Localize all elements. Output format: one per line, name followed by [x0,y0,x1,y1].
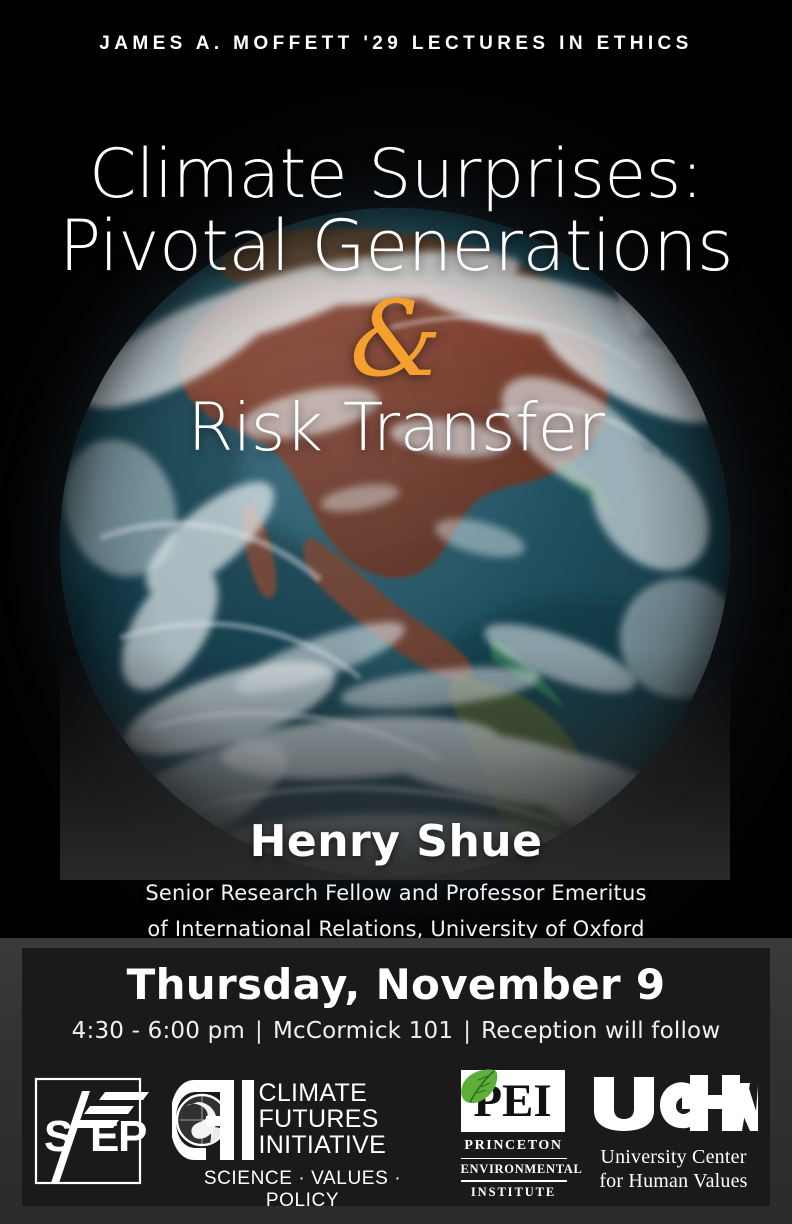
pei-line-environmental: ENVIRONMENTAL [461,1161,567,1178]
poster-title: Climate Surprises: Pivotal Generations &… [0,140,792,462]
uchv-line-2: for Human Values [588,1170,760,1194]
event-separator-1: | [245,1018,273,1044]
title-line-3: Risk Transfer [0,394,792,462]
step-letter-p: P [118,1112,147,1161]
event-note: Reception will follow [481,1018,720,1044]
event-time: 4:30 - 6:00 pm [72,1018,245,1044]
pei-line-institute: INSTITUTE [461,1184,567,1201]
step-logo: S E P [33,1075,151,1187]
university-center-human-values-logo: University Center for Human Values [588,1075,760,1187]
uchv-subtitle-block: University Center for Human Values [588,1146,760,1193]
event-detail-line: 4:30 - 6:00 pm|McCormick 101|Reception w… [22,1018,770,1044]
climate-futures-initiative-logo: CLIMATE FUTURES INITIATIVE SCIENCE · VAL… [172,1076,434,1186]
title-line-1: Climate Surprises: [0,140,792,210]
cfi-word-climate: CLIMATE [259,1081,387,1107]
event-date: Thursday, November 9 [22,960,770,1009]
uchv-monogram-icon [590,1075,758,1131]
pei-rule-top [461,1158,567,1160]
cfi-word-initiative: INITIATIVE [259,1133,387,1159]
pei-rule-bottom [461,1180,567,1182]
sponsor-logo-row: S E P [22,1063,770,1199]
uchv-line-1: University Center [588,1146,760,1170]
event-separator-2: | [453,1018,481,1044]
event-details-block: Thursday, November 9 4:30 - 6:00 pm|McCo… [22,960,770,1044]
speaker-name: Henry Shue [0,816,792,867]
lecture-series-title: JAMES A. MOFFETT '29 LECTURES IN ETHICS [0,33,792,55]
pei-leaf-icon [454,1066,500,1106]
speaker-affiliation-line-1: Senior Research Fellow and Professor Eme… [0,881,792,905]
event-location: McCormick 101 [273,1018,453,1044]
cfi-tagline: SCIENCE · VALUES · POLICY [172,1168,434,1212]
step-logo-mark: S E P [33,1075,151,1187]
cfi-word-futures: FUTURES [259,1107,387,1133]
speaker-block: Henry Shue Senior Research Fellow and Pr… [0,816,792,941]
cfi-globe-monogram-icon [172,1076,258,1164]
cfi-globe-icon [177,1095,227,1145]
pei-subtitle-block: PRINCETON ENVIRONMENTAL INSTITUTE [461,1137,567,1201]
title-line-2: Pivotal Generations [0,210,792,282]
step-letter-e: E [90,1112,119,1161]
ampersand-accent: & [0,290,792,390]
poster: JAMES A. MOFFETT '29 LECTURES IN ETHICS … [0,0,792,1224]
pei-line-princeton: PRINCETON [461,1137,567,1156]
princeton-environmental-institute-logo: PEI PRINCETON ENVIRONMENTAL INSTITUTE [455,1070,567,1192]
